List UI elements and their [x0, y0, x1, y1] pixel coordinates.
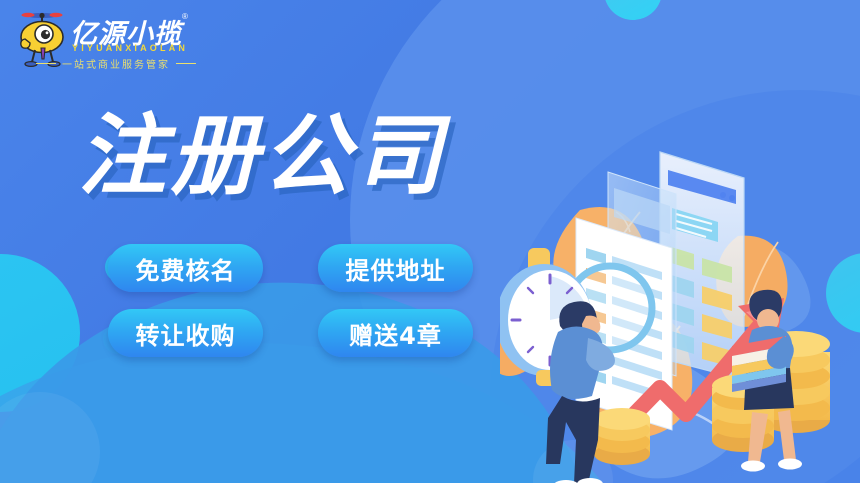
hero-illustration — [500, 130, 860, 483]
feature-pill-provide-address[interactable]: 提供地址 — [318, 244, 473, 292]
tagline-dash-right — [176, 63, 196, 65]
promo-banner: 亿源小揽 ® YIYUANXIAOLAN 一站式商业服务管家 注册公司 免费核名… — [0, 0, 860, 483]
logo-pinyin: YIYUANXIAOLAN — [72, 43, 188, 53]
feature-pill-row-1: 免费核名 提供地址 — [108, 244, 508, 292]
feature-pill-row-2: 转让收购 赠送4章 — [108, 309, 508, 357]
page-title: 注册公司 — [78, 112, 446, 200]
feature-pill-group: 免费核名 提供地址 转让收购 赠送4章 — [108, 244, 508, 374]
logo-tagline: 一站式商业服务管家 — [36, 56, 196, 71]
feature-pill-free-seals[interactable]: 赠送4章 — [318, 309, 473, 357]
coin-stack-short — [594, 408, 650, 465]
tagline-text: 一站式商业服务管家 — [62, 56, 170, 71]
brand-logo[interactable]: 亿源小揽 ® YIYUANXIAOLAN 一站式商业服务管家 — [14, 6, 214, 72]
feature-pill-free-name-check[interactable]: 免费核名 — [108, 244, 263, 292]
feature-pill-transfer-acquisition[interactable]: 转让收购 — [108, 309, 263, 357]
registered-mark-icon: ® — [182, 12, 188, 21]
tagline-dash-left — [36, 63, 56, 65]
